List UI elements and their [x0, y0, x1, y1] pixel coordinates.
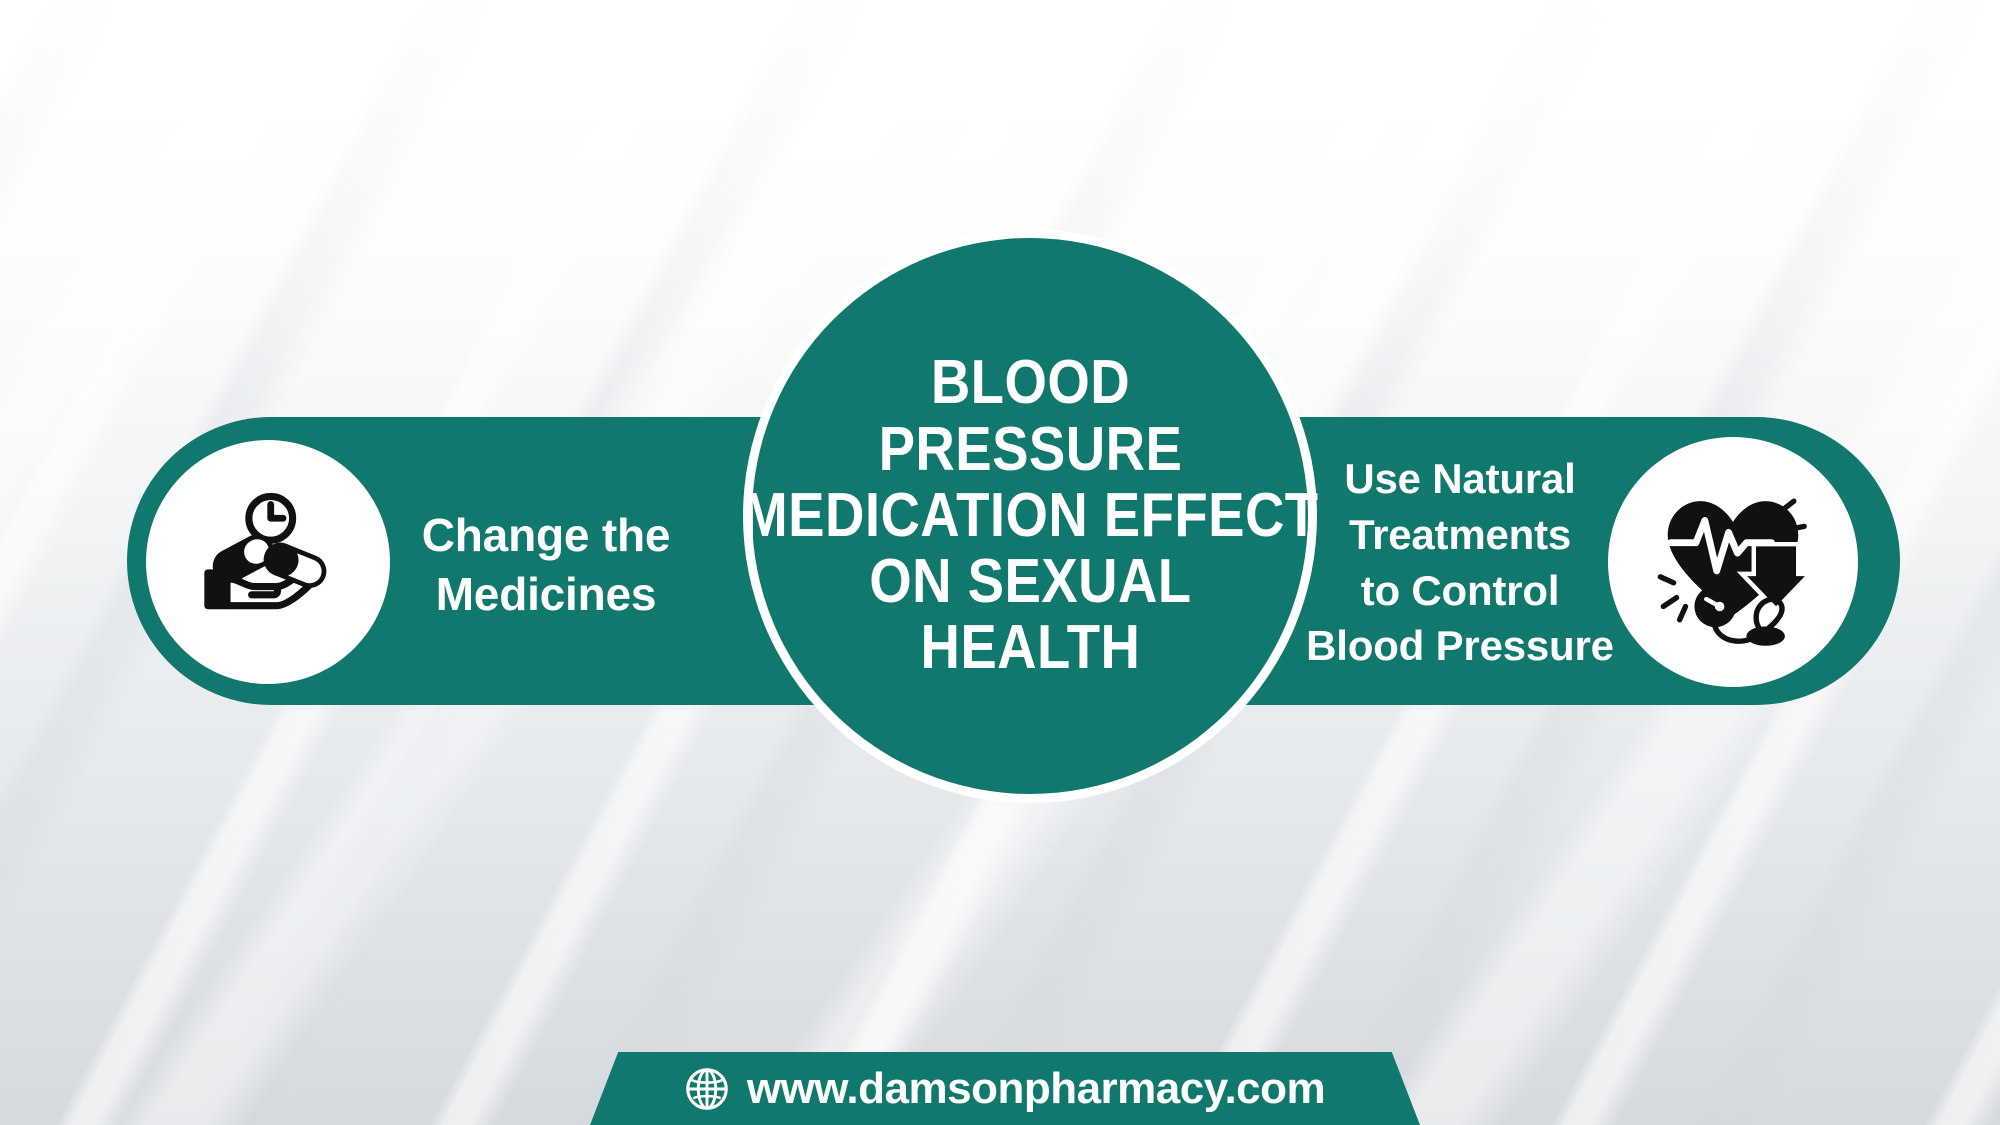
- right-icon-circle: [1608, 437, 1858, 687]
- infographic-canvas: Change the Medicines Use Natural Treatme…: [0, 0, 2000, 1125]
- left-icon-circle: [146, 440, 390, 684]
- left-label-line-2: Medicines: [436, 565, 657, 624]
- right-label-line-3: to Control: [1361, 563, 1560, 619]
- heart-pulse-blood-pressure-down-icon: [1644, 473, 1822, 651]
- page-title-line-3: MEDICATION EFFECT: [742, 483, 1318, 549]
- page-title-line-2: PRESSURE: [742, 417, 1318, 483]
- footer-url-banner[interactable]: www.damsonpharmacy.com: [590, 1052, 1420, 1125]
- hand-holding-pills-with-clock-icon: [186, 480, 350, 644]
- page-title: BLOOD PRESSURE MEDICATION EFFECT ON SEXU…: [752, 238, 1308, 794]
- right-label-line-1: Use Natural: [1344, 451, 1575, 507]
- page-title-line-1: BLOOD: [742, 350, 1318, 416]
- page-title-line-4: ON SEXUAL: [742, 549, 1318, 615]
- globe-icon: [685, 1067, 729, 1111]
- left-label: Change the Medicines: [396, 480, 696, 650]
- right-label-line-2: Treatments: [1349, 507, 1571, 563]
- footer-url-text[interactable]: www.damsonpharmacy.com: [747, 1064, 1325, 1114]
- left-label-line-1: Change the: [422, 506, 670, 565]
- page-title-line-5: HEALTH: [742, 615, 1318, 681]
